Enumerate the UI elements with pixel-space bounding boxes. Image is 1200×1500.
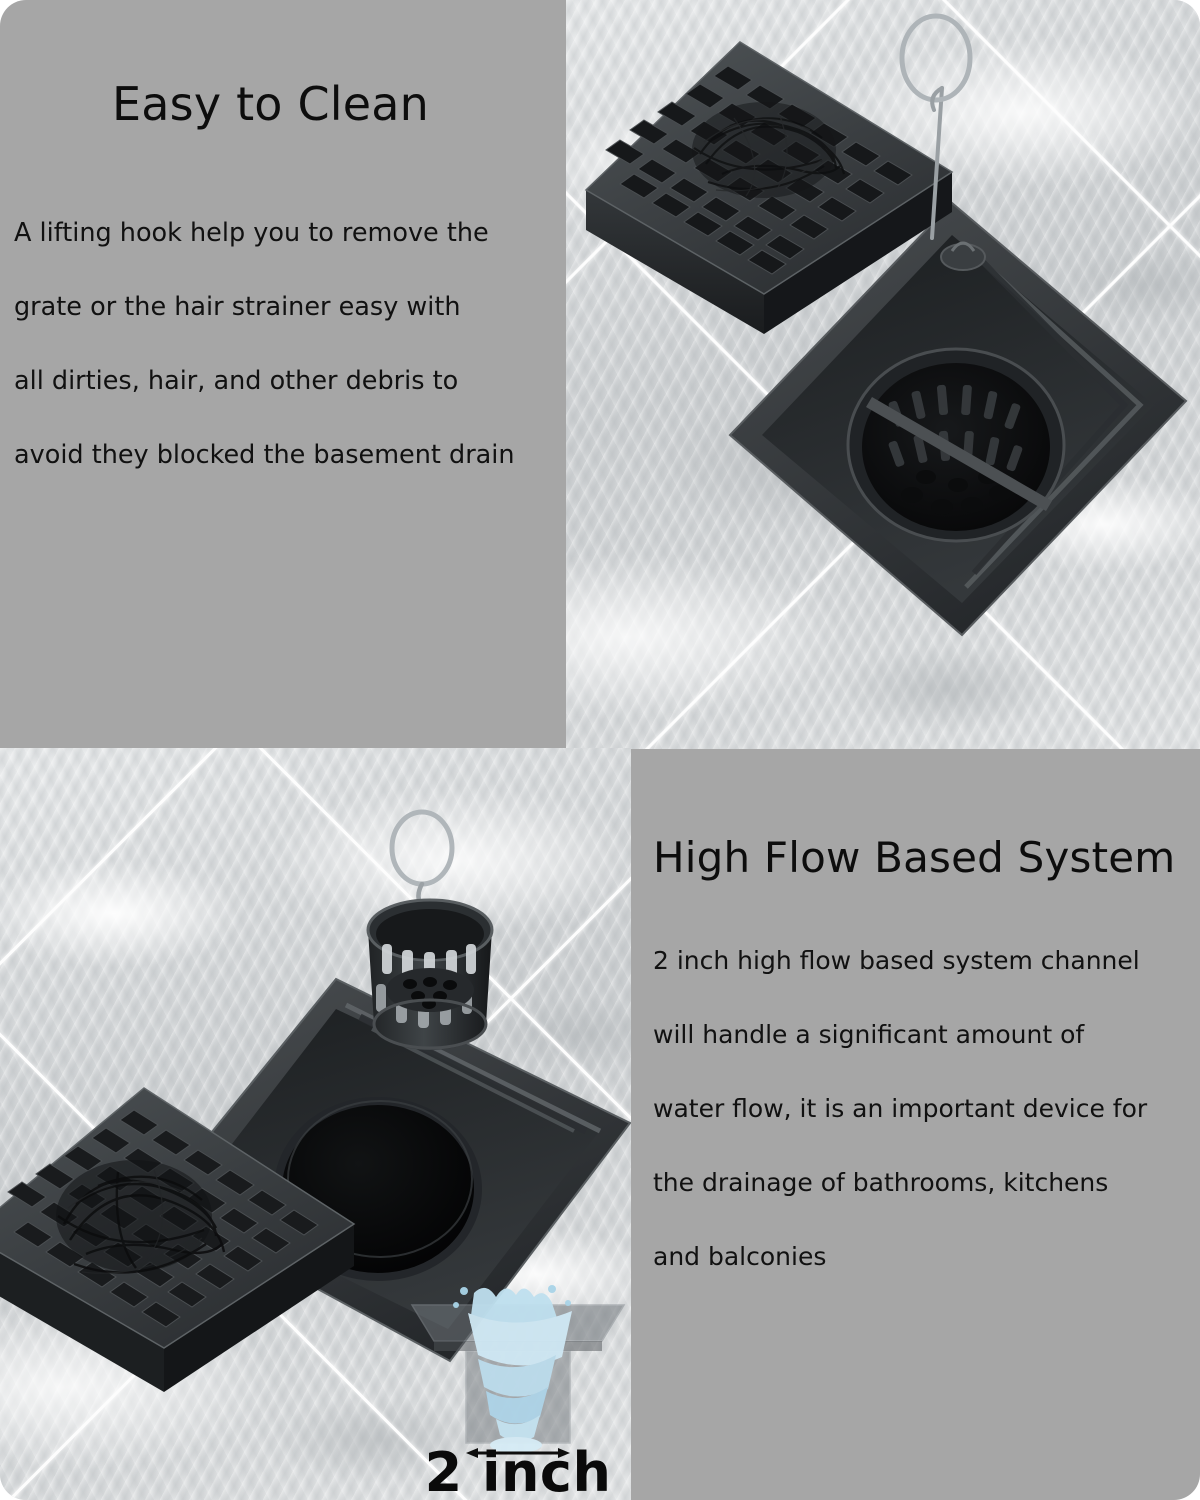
drain-grate-with-hair [0,1048,378,1408]
lifting-hook-wire [866,10,1006,240]
body-line: and balconies [653,1220,1200,1294]
panel-high-flow: High Flow Based System 2 inch high flow … [631,749,1200,1500]
drain-cross-section [404,1283,632,1463]
body-high-flow: 2 inch high flow based system channel wi… [653,924,1200,1294]
body-line: grate or the hair strainer easy with [14,270,559,344]
hair-strainer-basket [330,808,530,1068]
body-line: all dirties, hair, and other debris to [14,344,559,418]
body-line: 2 inch high flow based system channel [653,924,1200,998]
photo-easy-to-clean [566,0,1200,749]
dimension-label: 2 inch [404,1441,632,1500]
flow-diagram: 2 inch [404,1283,632,1500]
body-line: the drainage of bathrooms, kitchens [653,1146,1200,1220]
body-line: avoid they blocked the basement drain [14,418,559,492]
body-line: A lifting hook help you to remove the [14,196,559,270]
body-easy-to-clean: A lifting hook help you to remove the gr… [14,196,559,492]
heading-easy-to-clean: Easy to Clean [112,80,429,128]
body-line: will handle a significant amount of [653,998,1200,1072]
product-feature-image: 2 inch Easy to Clean A lifting hook help… [0,0,1200,1500]
panel-easy-to-clean: Easy to Clean A lifting hook help you to… [0,0,566,748]
body-line: water flow, it is an important device fo… [653,1072,1200,1146]
heading-high-flow: High Flow Based System [653,836,1175,880]
